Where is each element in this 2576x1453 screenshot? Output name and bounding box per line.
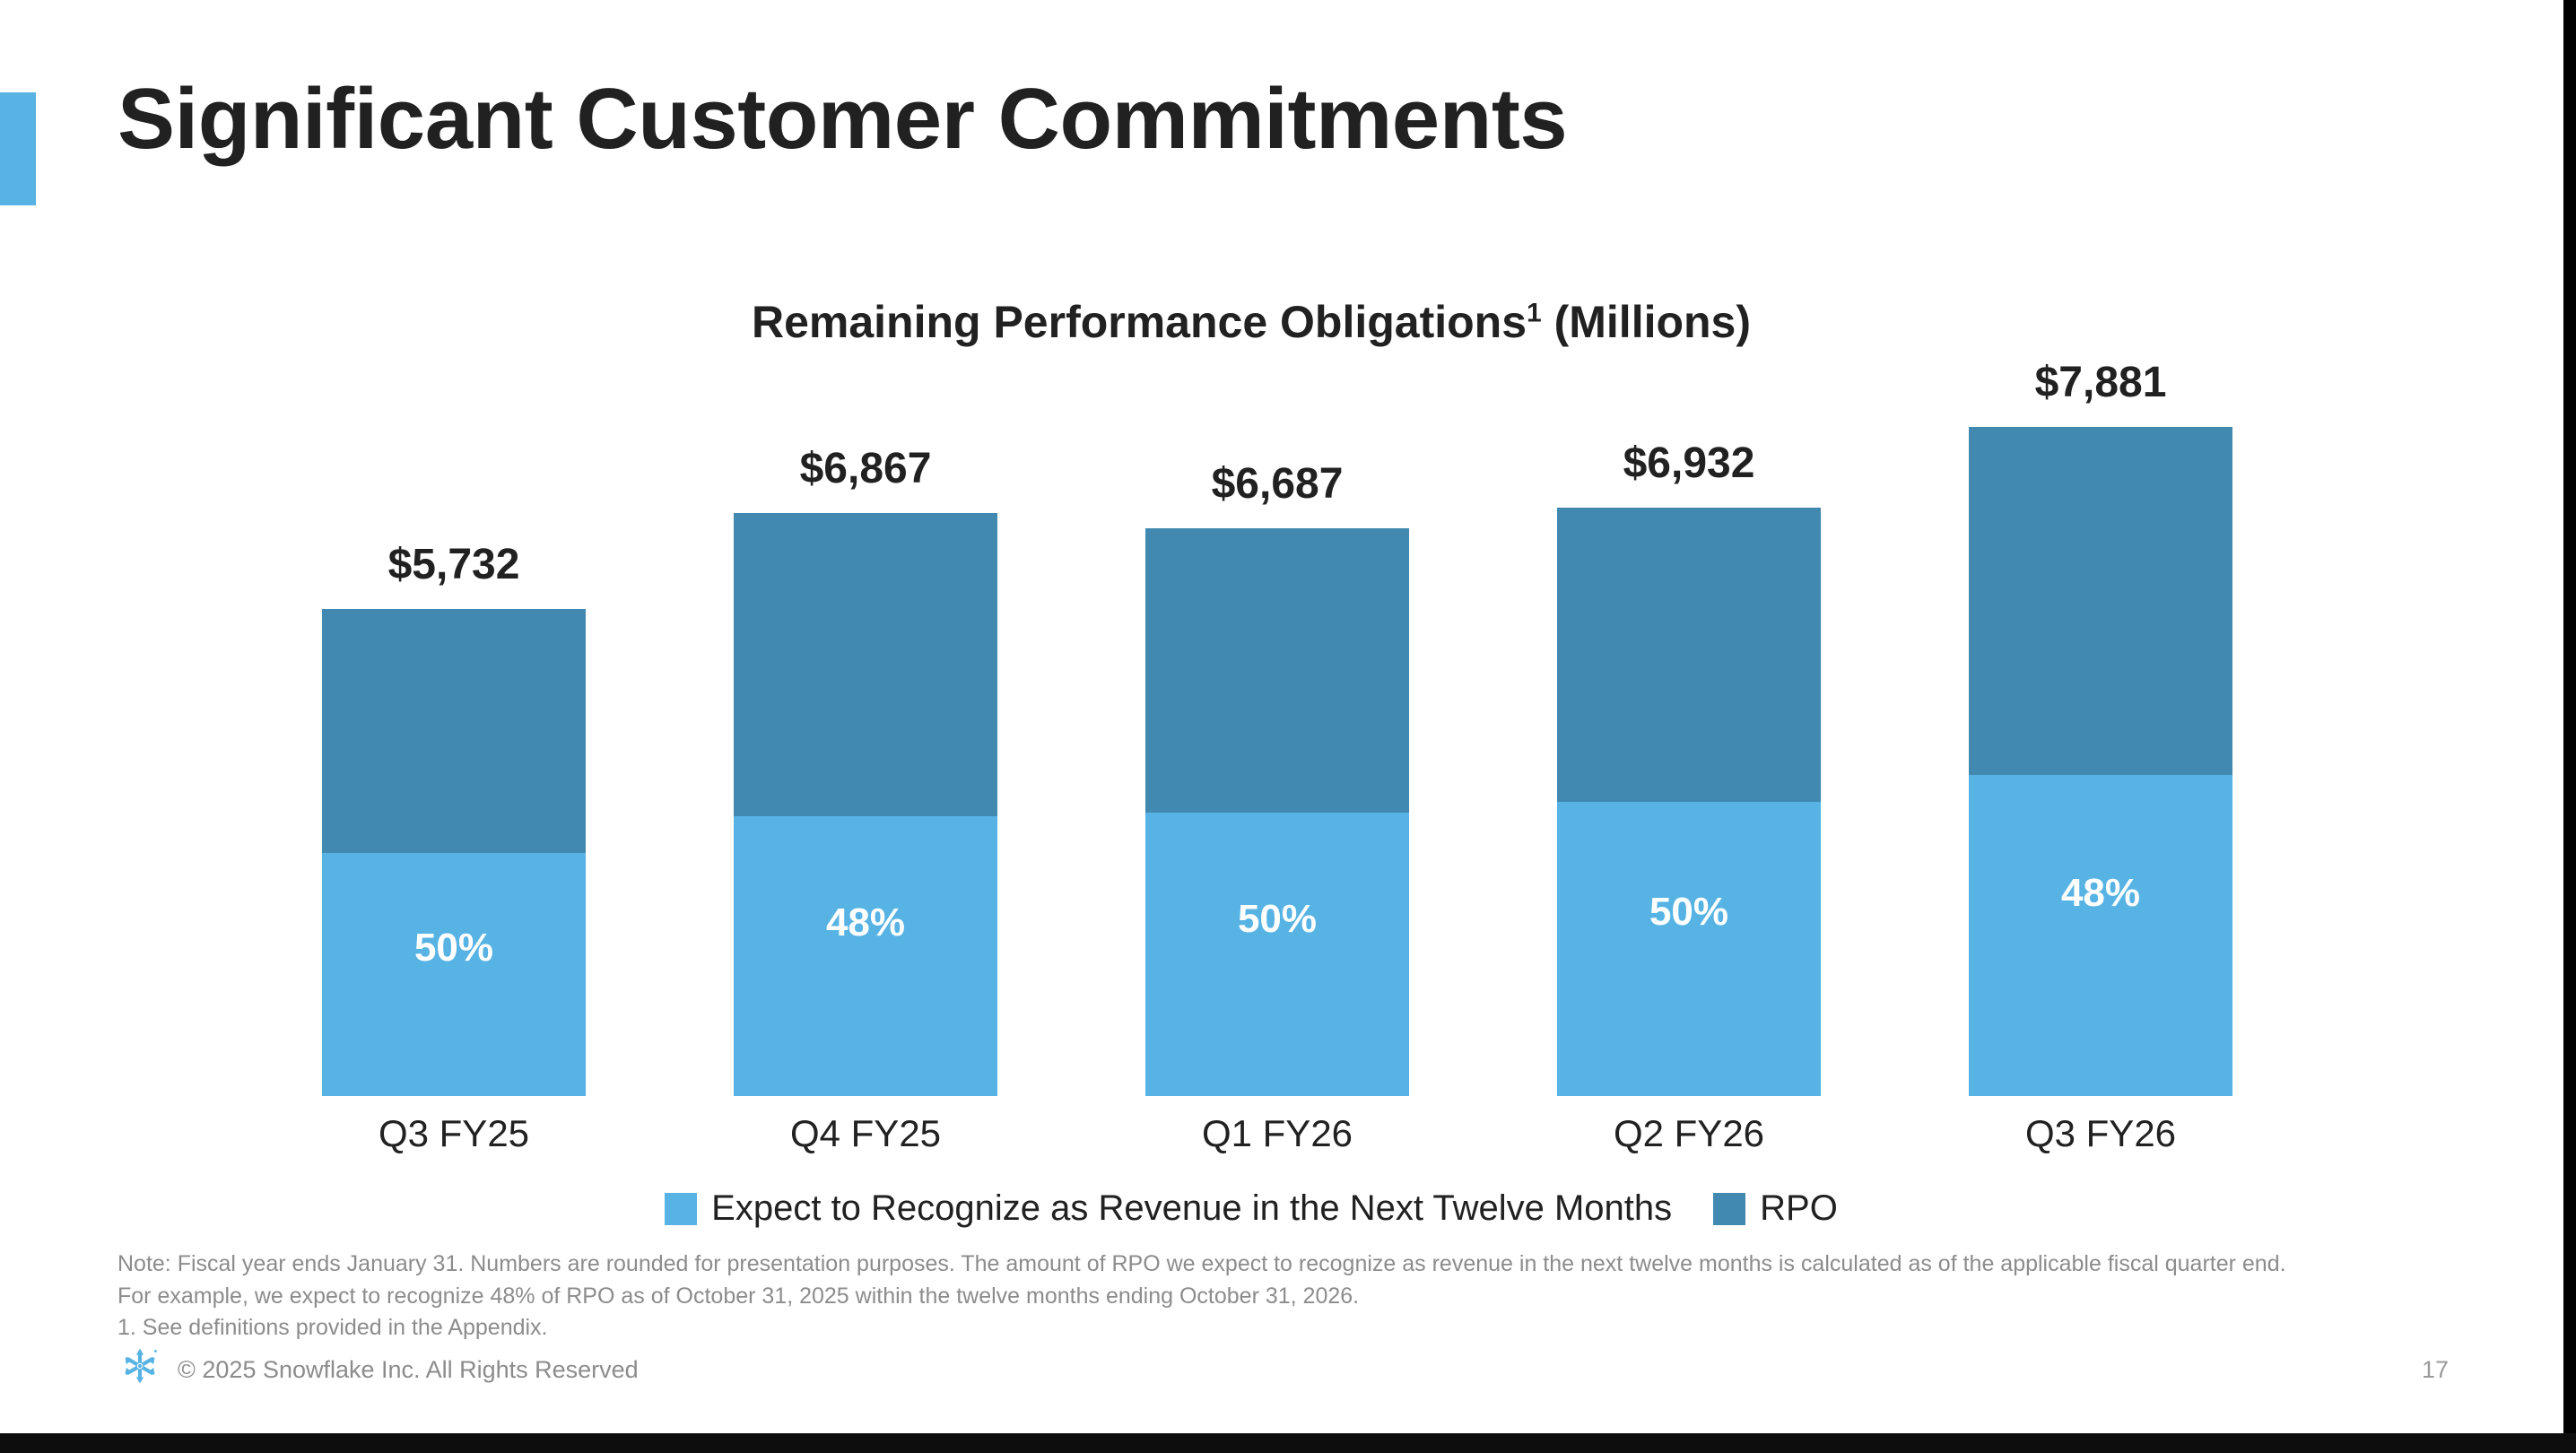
bar-segment-rpo — [734, 513, 997, 816]
legend-swatch-icon — [1713, 1193, 1745, 1225]
bar-total-label: $6,687 — [1145, 459, 1409, 509]
bar-percent-label: 50% — [1557, 890, 1821, 935]
bar-percent-label: 50% — [1145, 897, 1409, 942]
bar-column-q4-fy25: $6,86748%Q4 FY25 — [734, 513, 997, 1096]
slide-bottom-edge — [0, 1433, 2576, 1453]
page-number: 17 — [2422, 1356, 2449, 1384]
x-axis-label: Q4 FY25 — [734, 1112, 997, 1155]
bar-segment-next-twelve-months: 48% — [734, 816, 997, 1096]
snowflake-logo-icon — [119, 1345, 161, 1387]
footnote-line-3: 1. See definitions provided in the Appen… — [117, 1312, 2286, 1344]
chart-legend: Expect to Recognize as Revenue in the Ne… — [0, 1188, 2502, 1229]
x-axis-label: Q3 FY25 — [322, 1112, 586, 1155]
bar-segment-rpo — [1969, 427, 2232, 775]
bar-total-label: $5,732 — [322, 540, 586, 589]
x-axis-label: Q3 FY26 — [1969, 1112, 2232, 1155]
bar-segment-next-twelve-months: 50% — [1557, 802, 1821, 1096]
legend-label: RPO — [1760, 1188, 1838, 1229]
chart-area: Remaining Performance Obligations1 (Mill… — [0, 0, 2576, 1453]
bar-percent-label: 50% — [322, 926, 586, 970]
bar-column-q1-fy26: $6,68750%Q1 FY26 — [1145, 528, 1409, 1096]
bar-total-label: $6,932 — [1557, 439, 1821, 488]
bar-segment-rpo — [1145, 528, 1409, 812]
bar-column-q2-fy26: $6,93250%Q2 FY26 — [1557, 508, 1821, 1096]
legend-swatch-icon — [665, 1193, 697, 1225]
bar-column-q3-fy25: $5,73250%Q3 FY25 — [322, 609, 586, 1096]
bar-column-q3-fy26: $7,88148%Q3 FY26 — [1969, 427, 2232, 1096]
footnote-line-2: For example, we expect to recognize 48% … — [117, 1281, 2286, 1313]
bar-total-label: $6,867 — [734, 444, 997, 493]
footer-copyright: © 2025 Snowflake Inc. All Rights Reserve… — [178, 1356, 639, 1384]
bar-segment-next-twelve-months: 48% — [1969, 775, 2232, 1096]
slide-right-edge — [2563, 0, 2576, 1453]
presentation-slide: Significant Customer Commitments Remaini… — [0, 0, 2576, 1453]
footnotes-block: Note: Fiscal year ends January 31. Numbe… — [117, 1249, 2286, 1344]
bar-segment-next-twelve-months: 50% — [1145, 813, 1409, 1096]
stacked-bar-plot: $5,73250%Q3 FY25$6,86748%Q4 FY25$6,68750… — [0, 0, 2576, 1453]
bar-total-label: $7,881 — [1969, 358, 2232, 407]
x-axis-label: Q2 FY26 — [1557, 1112, 1821, 1155]
legend-item-next-twelve-months[interactable]: Expect to Recognize as Revenue in the Ne… — [665, 1188, 1672, 1229]
bar-segment-next-twelve-months: 50% — [322, 853, 586, 1096]
footnote-line-1: Note: Fiscal year ends January 31. Numbe… — [117, 1249, 2286, 1281]
bar-percent-label: 48% — [1969, 871, 2232, 916]
bar-segment-rpo — [1557, 508, 1821, 802]
bar-segment-rpo — [322, 609, 586, 852]
x-axis-label: Q1 FY26 — [1145, 1112, 1409, 1155]
legend-label: Expect to Recognize as Revenue in the Ne… — [711, 1188, 1672, 1229]
bar-percent-label: 48% — [734, 901, 997, 945]
legend-item-rpo[interactable]: RPO — [1713, 1188, 1838, 1229]
